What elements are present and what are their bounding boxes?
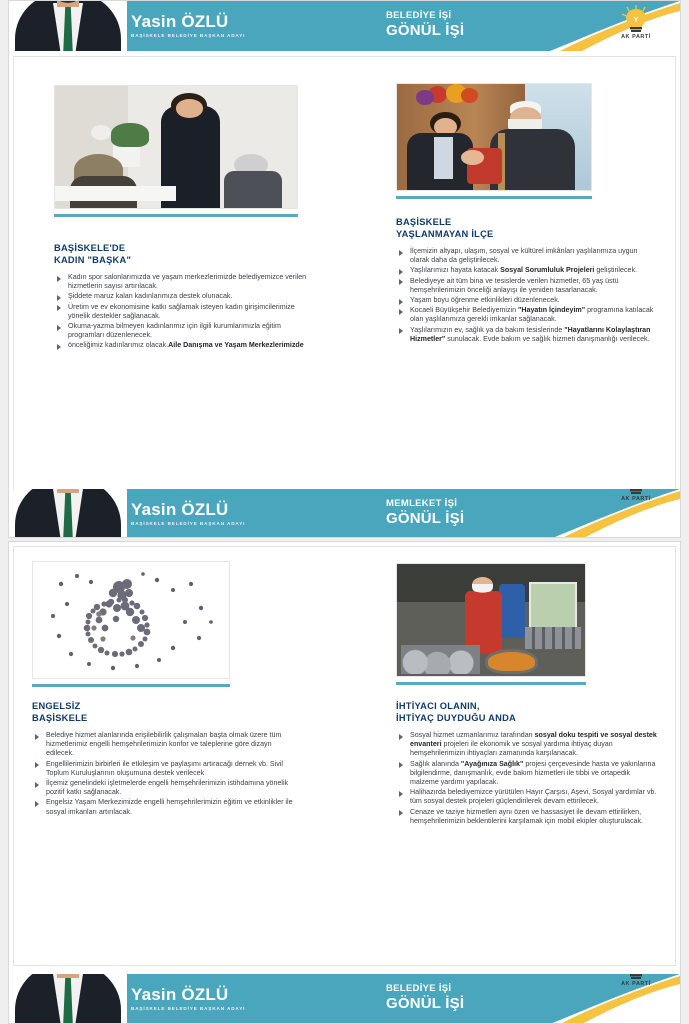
- brochure-page-1: Yasin ÖZLÜ BAŞİSKELE BELEDİYE BAŞKAN ADA…: [8, 0, 681, 538]
- page-1-right-column: BAŞİSKELE YAŞLANMAYAN İLÇE İlçemizin alt…: [396, 83, 658, 345]
- brochure-page-2: ENGELSİZ BAŞİSKELE Belediye hizmet alanl…: [8, 541, 681, 1024]
- bullet-item: Yaşlılarımızın ev, sağlık ya da bakım te…: [396, 326, 658, 344]
- ak-parti-logo: Y AK PARTİ: [608, 489, 664, 502]
- bullet-item: Belediye hizmet alanlarında erişilebilir…: [32, 731, 300, 759]
- heading-line-2: KADIN "BAŞKA": [54, 255, 309, 267]
- bullet-item: Engelsiz Yaşam Merkezimizde engelli hemş…: [32, 798, 300, 816]
- candidate-portrait-photo: [9, 974, 127, 1024]
- banner-top: Yasin ÖZLÜ BAŞİSKELE BELEDİYE BAŞKAN ADA…: [9, 1, 680, 51]
- bullet-item: Yaşlılarımızı hayata katacak Sosyal Soru…: [396, 266, 658, 275]
- bullet-emphasis: Aile Danışma ve Yaşam Merkezlerimizde: [168, 341, 304, 349]
- page-1-left-heading: BAŞİSKELE'DE KADIN "BAŞKA": [54, 243, 309, 266]
- page-1-body: BAŞİSKELE'DE KADIN "BAŞKA" Kadın spor sa…: [13, 56, 676, 534]
- banner-candidate-block: Yasin ÖZLÜ BAŞİSKELE BELEDİYE BAŞKAN ADA…: [131, 501, 245, 527]
- heading-line-1: BAŞİSKELE: [396, 217, 658, 229]
- page-1-left-column: BAŞİSKELE'DE KADIN "BAŞKA" Kadın spor sa…: [54, 85, 309, 352]
- slogan-line-1: BELEDİYE İŞİ: [386, 984, 464, 994]
- page-2-body: ENGELSİZ BAŞİSKELE Belediye hizmet alanl…: [13, 546, 676, 966]
- page-2-right-photo: [396, 563, 586, 677]
- bullet-item: İlçemizin altyapı, ulaşım, sosyal ve kül…: [396, 247, 658, 265]
- page-2-left-column: ENGELSİZ BAŞİSKELE Belediye hizmet alanl…: [32, 561, 300, 818]
- bullet-item: Kadın spor salonlarımızda ve yaşam merke…: [54, 273, 309, 291]
- bullet-item: Sosyal hizmet uzmanlarımız tarafından so…: [396, 731, 658, 759]
- bullet-emphasis: Sosyal Sorumluluk Projeleri: [500, 266, 594, 274]
- page-2-left-photo: [32, 561, 230, 679]
- page-1-right-heading: BAŞİSKELE YAŞLANMAYAN İLÇE: [396, 217, 658, 240]
- wheelchair-symbol-crowd-graphic: [33, 562, 230, 679]
- bullet-item: İlçemiz genelindeki işletmelerde engelli…: [32, 779, 300, 797]
- page-2-left-photo-rule: [32, 684, 230, 687]
- slogan-block: BELEDİYE İŞİ GÖNÜL İŞİ: [386, 11, 464, 38]
- page-1-left-bullet-list: Kadın spor salonlarımızda ve yaşam merke…: [54, 273, 309, 351]
- page-2-left-bullet-list: Belediye hizmet alanlarında erişilebilir…: [32, 731, 300, 817]
- bullet-emphasis: "Hayatlarını Kolaylaştıran Hizmetler": [410, 326, 650, 343]
- bullet-item: Belediyeye ait tüm bina ve tesislerde ve…: [396, 277, 658, 295]
- bullet-item: önceliğimiz kadınlarımız olacak.Aile Dan…: [54, 341, 309, 350]
- candidate-name: Yasin ÖZLÜ: [131, 986, 245, 1003]
- bullet-item: Şiddete maruz kalan kadınlarımıza destek…: [54, 292, 309, 301]
- page-1-left-photo-rule: [54, 214, 298, 217]
- document-viewport[interactable]: Yasin ÖZLÜ BAŞİSKELE BELEDİYE BAŞKAN ADA…: [0, 0, 689, 1024]
- bullet-emphasis: "Hayatın İçindeyim": [518, 306, 585, 314]
- ak-parti-logo-text: AK PARTİ: [608, 34, 664, 40]
- page-2-right-bullet-list: Sosyal hizmet uzmanlarımız tarafından so…: [396, 731, 658, 826]
- bullet-item: Halihazırda belediyemizce yürütülen Hayı…: [396, 788, 658, 806]
- heading-line-2: BAŞİSKELE: [32, 713, 300, 725]
- heading-line-2: YAŞLANMAYAN İLÇE: [396, 229, 658, 241]
- banner-candidate-block: Yasin ÖZLÜ BAŞİSKELE BELEDİYE BAŞKAN ADA…: [131, 986, 245, 1012]
- page-2-right-column: İHTİYACI OLANIN, İHTİYAÇ DUYDUĞU ANDA So…: [396, 563, 658, 827]
- page-1-right-photo: [396, 83, 592, 191]
- banner-candidate-block: Yasin ÖZLÜ BAŞİSKELE BELEDİYE BAŞKAN ADA…: [131, 13, 245, 39]
- slogan-block: MEMLEKET İŞİ GÖNÜL İŞİ: [386, 499, 464, 526]
- bullet-item: Yaşam boyu öğrenme etkinlikleri düzenlen…: [396, 296, 658, 305]
- bullet-item: Engellilerimizin birbirleri ile etkileşi…: [32, 760, 300, 778]
- page-1-right-photo-rule: [396, 196, 592, 199]
- bullet-item: Sağlık alanında "Ayağınıza Sağlık" proje…: [396, 760, 658, 788]
- slogan-line-1: MEMLEKET İŞİ: [386, 499, 464, 509]
- page-2-right-photo-rule: [396, 682, 586, 685]
- heading-line-1: BAŞİSKELE'DE: [54, 243, 309, 255]
- ak-parti-logo: Y AK PARTİ: [608, 974, 664, 987]
- bullet-item: Kocaeli Büyükşehir Belediyemizin "Hayatı…: [396, 306, 658, 324]
- candidate-name: Yasin ÖZLÜ: [131, 501, 245, 518]
- slogan-line-2: GÖNÜL İŞİ: [386, 511, 464, 526]
- page-1-right-bullet-list: İlçemizin altyapı, ulaşım, sosyal ve kül…: [396, 247, 658, 344]
- heading-line-1: ENGELSİZ: [32, 701, 300, 713]
- candidate-portrait-photo: [9, 489, 127, 538]
- slogan-line-2: GÖNÜL İŞİ: [386, 996, 464, 1011]
- candidate-name: Yasin ÖZLÜ: [131, 13, 245, 30]
- banner-middle: Yasin ÖZLÜ BAŞİSKELE BELEDİYE BAŞKAN ADA…: [9, 489, 680, 538]
- slogan-line-2: GÖNÜL İŞİ: [386, 23, 464, 38]
- slogan-line-1: BELEDİYE İŞİ: [386, 11, 464, 21]
- candidate-subtitle: BAŞİSKELE BELEDİYE BAŞKAN ADAYI: [131, 522, 245, 527]
- bullet-emphasis: "Ayağınıza Sağlık": [461, 760, 523, 768]
- page-1-left-photo: [54, 85, 298, 209]
- banner-bottom: Yasin ÖZLÜ BAŞİSKELE BELEDİYE BAŞKAN ADA…: [9, 974, 680, 1024]
- page-2-left-heading: ENGELSİZ BAŞİSKELE: [32, 701, 300, 724]
- candidate-portrait-photo: [9, 1, 127, 51]
- bullet-item: Okuma-yazma bilmeyen kadınlarımız için i…: [54, 322, 309, 340]
- heading-line-1: İHTİYACI OLANIN,: [396, 701, 658, 713]
- page-2-right-heading: İHTİYACI OLANIN, İHTİYAÇ DUYDUĞU ANDA: [396, 701, 658, 724]
- bullet-emphasis: sosyal doku tespiti ve sosyal destek env…: [410, 731, 657, 748]
- candidate-subtitle: BAŞİSKELE BELEDİYE BAŞKAN ADAYI: [131, 1007, 245, 1012]
- ak-parti-logo-text: AK PARTİ: [608, 496, 664, 502]
- bullet-item: Üretim ve ev ekonomisine katkı sağlamak …: [54, 303, 309, 321]
- ak-parti-logo-text: AK PARTİ: [608, 981, 664, 987]
- slogan-block: BELEDİYE İŞİ GÖNÜL İŞİ: [386, 984, 464, 1011]
- candidate-subtitle: BAŞİSKELE BELEDİYE BAŞKAN ADAYI: [131, 34, 245, 39]
- heading-line-2: İHTİYAÇ DUYDUĞU ANDA: [396, 713, 658, 725]
- ak-parti-logo: Y AK PARTİ: [608, 5, 664, 40]
- bullet-item: Cenaze ve taziye hizmetleri aynı özen ve…: [396, 808, 658, 826]
- svg-text:Y: Y: [634, 17, 639, 24]
